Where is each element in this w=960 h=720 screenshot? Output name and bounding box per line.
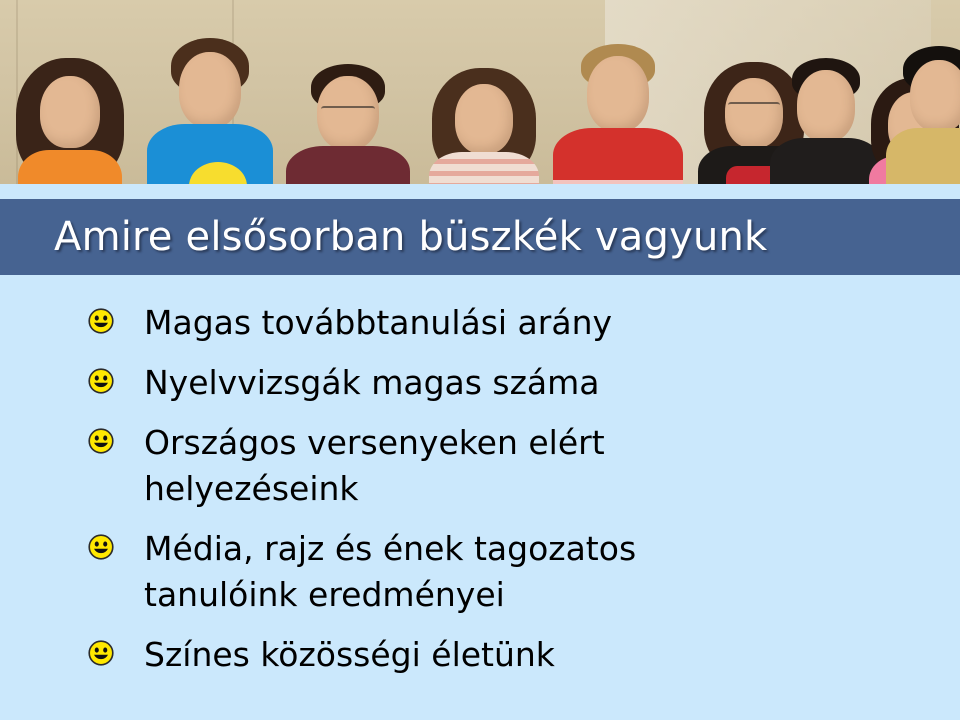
photo-person bbox=[282, 34, 414, 184]
smiley-face-icon bbox=[88, 640, 114, 666]
page-title: Amire elsősorban büszkék vagyunk bbox=[54, 214, 767, 260]
face bbox=[797, 70, 855, 142]
torso bbox=[18, 150, 122, 184]
list-item: Nyelvvizsgák magas száma bbox=[88, 360, 888, 406]
group-photo bbox=[0, 0, 960, 184]
photo-person bbox=[884, 28, 960, 184]
smiley-face-icon bbox=[88, 308, 114, 334]
photo-person bbox=[548, 24, 688, 184]
photo-person bbox=[140, 22, 280, 184]
torso bbox=[429, 152, 539, 184]
slide-title-band: Amire elsősorban büszkék vagyunk bbox=[0, 199, 960, 275]
presentation-slide: Amire elsősorban büszkék vagyunk Magas t… bbox=[0, 0, 960, 720]
list-item-label: Színes közösségi életünk bbox=[144, 632, 555, 678]
smiley-face-icon bbox=[88, 428, 114, 454]
list-item: Országos versenyeken elért helyezéseink bbox=[88, 420, 888, 512]
list-item-label: Magas továbbtanulási arány bbox=[144, 300, 612, 346]
list-item-label: Nyelvvizsgák magas száma bbox=[144, 360, 600, 406]
list-item: Média, rajz és ének tagozatos tanulóink … bbox=[88, 526, 888, 618]
torso bbox=[286, 146, 410, 184]
face bbox=[587, 56, 649, 132]
list-item-label: Média, rajz és ének tagozatos tanulóink … bbox=[144, 526, 764, 618]
smiley-face-icon bbox=[88, 368, 114, 394]
bullet-list: Magas továbbtanulási arány Nyelvvizsgák … bbox=[88, 300, 888, 692]
face bbox=[179, 52, 241, 128]
list-item-label: Országos versenyeken elért helyezéseink bbox=[144, 420, 724, 512]
shirt-stripes bbox=[553, 174, 683, 184]
face bbox=[40, 76, 100, 148]
face bbox=[455, 84, 513, 154]
smiley-face-icon bbox=[88, 534, 114, 560]
list-item: Színes közösségi életünk bbox=[88, 632, 888, 678]
eyeglasses bbox=[321, 106, 375, 115]
list-item: Magas továbbtanulási arány bbox=[88, 300, 888, 346]
face bbox=[910, 60, 960, 132]
photo-person bbox=[10, 54, 130, 184]
torso bbox=[886, 128, 960, 184]
photo-person bbox=[418, 36, 550, 184]
